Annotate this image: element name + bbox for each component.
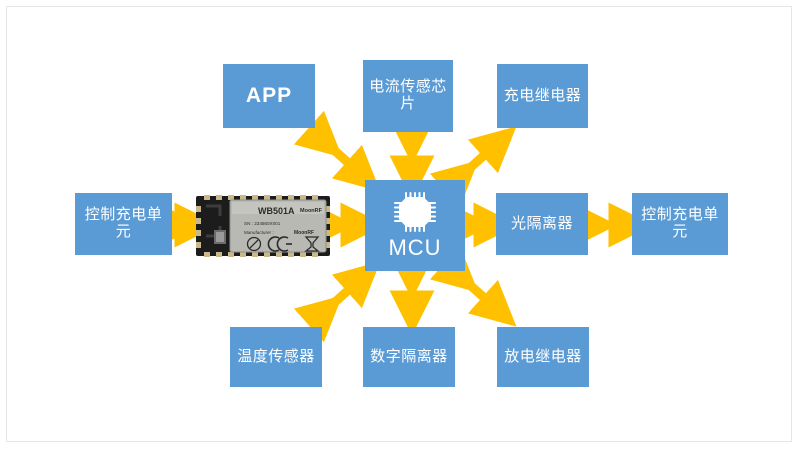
arrow-module-to-mcu [326,211,368,239]
arrow-charge-relay-to-mcu [452,133,508,185]
node-temp-sensor-label: 温度传感器 [237,349,315,366]
node-opto-isolator-label: 光隔离器 [511,216,573,233]
arrow-discharge-relay-to-mcu [452,268,508,320]
node-charge-control-right[interactable]: 控制充电单元 [632,193,728,255]
node-opto-isolator[interactable]: 光隔离器 [496,193,588,255]
diagram-canvas: APP 电流传感芯片 充电继电器 控制充电单元 [0,0,800,450]
wb501a-module-photo: WB501A MoonRF SN : 234560X001 Manufactur… [196,192,330,260]
node-charge-control-right-label: 控制充电单元 [636,207,724,241]
arrow-opto-isolator-to-charge-control-right [588,211,636,239]
module-brand-top: MoonRF [300,208,323,214]
arrow-current-sensor-to-mcu [400,133,424,185]
node-digital-isolator[interactable]: 数字隔离器 [363,327,455,387]
module-sn: SN : 234560X001 [244,221,281,226]
arrow-app-to-mcu [316,133,372,185]
node-app[interactable]: APP [223,64,315,128]
node-charge-control-left-label: 控制充电单元 [79,207,168,241]
node-temp-sensor[interactable]: 温度传感器 [230,327,322,387]
module-part-number: WB501A [258,206,295,216]
node-current-sensor[interactable]: 电流传感芯片 [363,60,453,132]
node-current-sensor-label: 电流传感芯片 [367,79,449,113]
node-charge-control-left[interactable]: 控制充电单元 [75,193,172,255]
arrow-temp-sensor-to-mcu [316,268,372,320]
microchip-icon [392,190,438,234]
node-discharge-relay-label: 放电继电器 [504,349,582,366]
node-digital-isolator-label: 数字隔离器 [370,349,448,366]
node-mcu[interactable]: MCU [365,180,465,271]
node-mcu-label: MCU [388,235,441,261]
module-manufacturer-brand: MoonRF [294,230,314,236]
arrow-digital-isolator-to-mcu [400,268,424,320]
module-manufacturer: Manufacturer : [244,230,274,235]
node-discharge-relay[interactable]: 放电继电器 [497,327,589,387]
node-app-label: APP [246,84,292,108]
node-charge-relay[interactable]: 充电继电器 [497,64,588,128]
node-charge-relay-label: 充电继电器 [504,88,582,105]
